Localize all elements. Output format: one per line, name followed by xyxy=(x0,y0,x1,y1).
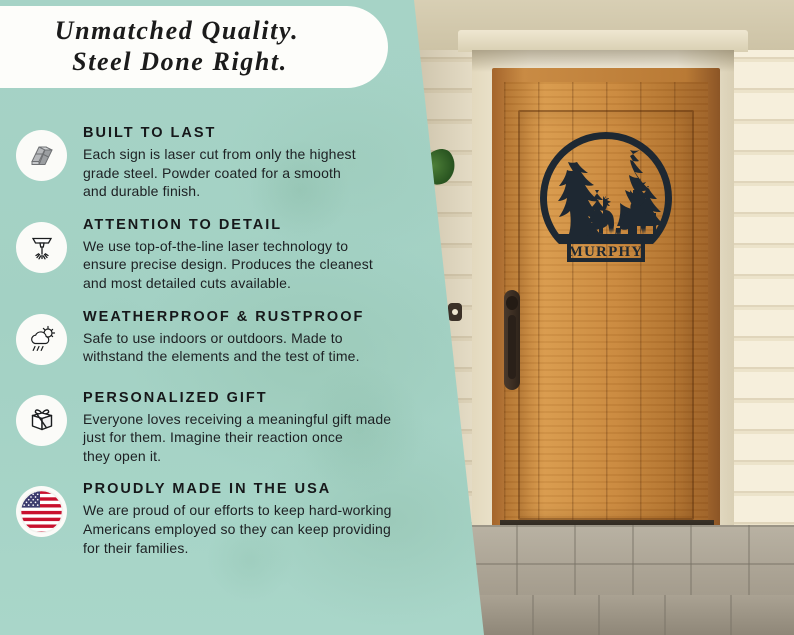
feature-title: PERSONALIZED GIFT xyxy=(83,390,466,406)
door-knob-icon xyxy=(506,296,518,310)
title-line-1: Unmatched Quality. xyxy=(55,16,300,47)
feature-title: WEATHERPROOF & RUSTPROOF xyxy=(83,309,466,325)
infographic-canvas: MURPHY Unmatched Quality. Steel Done Rig… xyxy=(0,0,794,635)
feature-body-line: and most detailed cuts available. xyxy=(83,274,455,293)
feature-item-built-to-last: BUILT TO LAST Each sign is laser cut fro… xyxy=(16,118,466,201)
feature-body-line: grade steel. Powder coated for a smooth xyxy=(83,164,455,183)
feature-body-line: just for them. Imagine their reaction on… xyxy=(83,428,455,447)
feature-body-line: Each sign is laser cut from only the hig… xyxy=(83,145,455,164)
door-casing-top xyxy=(458,30,748,52)
feature-body-line: Safe to use indoors or outdoors. Made to xyxy=(83,329,455,348)
title-line-2: Steel Done Right. xyxy=(66,47,288,78)
feature-body-line: Everyone loves receiving a meaningful gi… xyxy=(83,410,455,429)
feature-text: PROUDLY MADE IN THE USA We are proud of … xyxy=(83,474,466,557)
feature-item-attention-to-detail: ATTENTION TO DETAIL We use top-of-the-li… xyxy=(16,210,466,293)
feature-body: Each sign is laser cut from only the hig… xyxy=(83,145,455,201)
laser-cutter-icon xyxy=(16,222,67,273)
steel-beam-icon xyxy=(16,130,67,181)
title-banner: Unmatched Quality. Steel Done Right. xyxy=(0,6,388,88)
gift-box-icon xyxy=(16,395,67,446)
feature-body-line: ensure precise design. Produces the clea… xyxy=(83,255,455,274)
feature-body: Safe to use indoors or outdoors. Made to… xyxy=(83,329,455,366)
feature-text: ATTENTION TO DETAIL We use top-of-the-li… xyxy=(83,210,466,293)
feature-item-made-in-usa: PROUDLY MADE IN THE USA We are proud of … xyxy=(16,474,466,557)
murphy-metal-sign: MURPHY xyxy=(529,128,683,276)
feature-text: WEATHERPROOF & RUSTPROOF Safe to use ind… xyxy=(83,302,466,366)
feature-body-line: for their families. xyxy=(83,539,455,558)
usa-flag-icon xyxy=(16,486,67,537)
feature-text: PERSONALIZED GIFT Everyone loves receivi… xyxy=(83,383,466,466)
feature-body-line: withstand the elements and the test of t… xyxy=(83,347,455,366)
door-handle-grip xyxy=(508,315,516,379)
feature-list: BUILT TO LAST Each sign is laser cut fro… xyxy=(16,118,466,557)
feature-body-line: We use top-of-the-line laser technology … xyxy=(83,237,455,256)
sign-name-text: MURPHY xyxy=(569,244,644,260)
feature-text: BUILT TO LAST Each sign is laser cut fro… xyxy=(83,118,466,201)
feature-item-weatherproof: WEATHERPROOF & RUSTPROOF Safe to use ind… xyxy=(16,302,466,374)
feature-body-line: and durable finish. xyxy=(83,182,455,201)
feature-body: We are proud of our efforts to keep hard… xyxy=(83,501,455,557)
feature-title: PROUDLY MADE IN THE USA xyxy=(83,481,466,497)
feature-item-personalized-gift: PERSONALIZED GIFT Everyone loves receivi… xyxy=(16,383,466,466)
feature-body-line: Americans employed so they can keep prov… xyxy=(83,520,455,539)
feature-body-line: they open it. xyxy=(83,447,455,466)
weather-sun-cloud-rain-icon xyxy=(16,314,67,365)
feature-body: We use top-of-the-line laser technology … xyxy=(83,237,455,293)
feature-body-line: We are proud of our efforts to keep hard… xyxy=(83,501,455,520)
feature-body: Everyone loves receiving a meaningful gi… xyxy=(83,410,455,466)
feature-title: BUILT TO LAST xyxy=(83,125,466,141)
feature-title: ATTENTION TO DETAIL xyxy=(83,217,466,233)
